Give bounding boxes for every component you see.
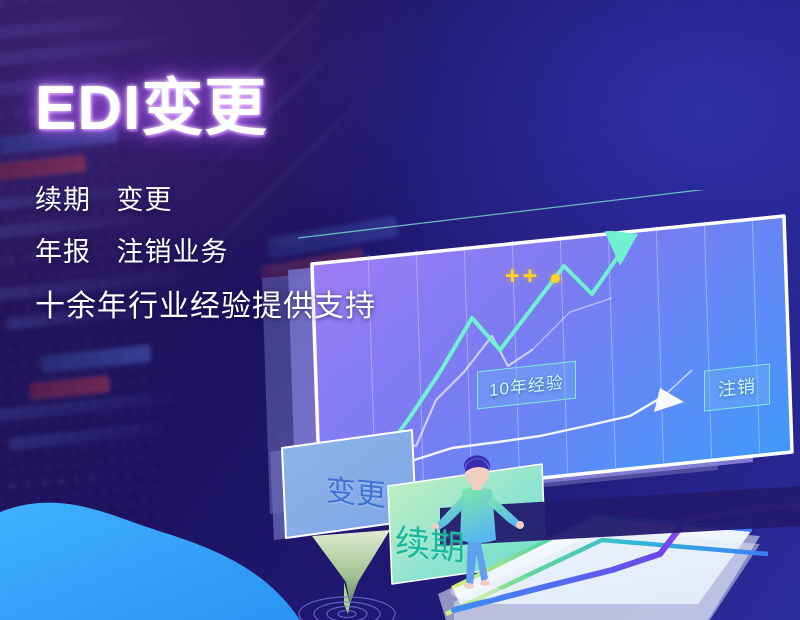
- subtitle-line-3: 十余年行业经验提供支持: [35, 292, 505, 322]
- subtitle-line-1: 续期 变更: [35, 187, 505, 214]
- plus-marks-icon: ++: [505, 262, 540, 291]
- connector-dot-icon: [551, 274, 560, 283]
- badge-cancel: 注销: [704, 363, 770, 411]
- headline-block: EDI变更 续期 变更 年报 注销业务 十余年行业经验提供支持: [35, 78, 505, 322]
- page-title: EDI变更: [35, 78, 505, 140]
- edi-change-banner: 01001 0110 1001 1 0 0 1 1 0 0 1 0 0110 1…: [0, 0, 800, 620]
- subtitle-line-2: 年报 注销业务: [35, 239, 505, 266]
- card-label-renew: 续期: [395, 514, 465, 572]
- card-label-change: 变更: [326, 465, 386, 515]
